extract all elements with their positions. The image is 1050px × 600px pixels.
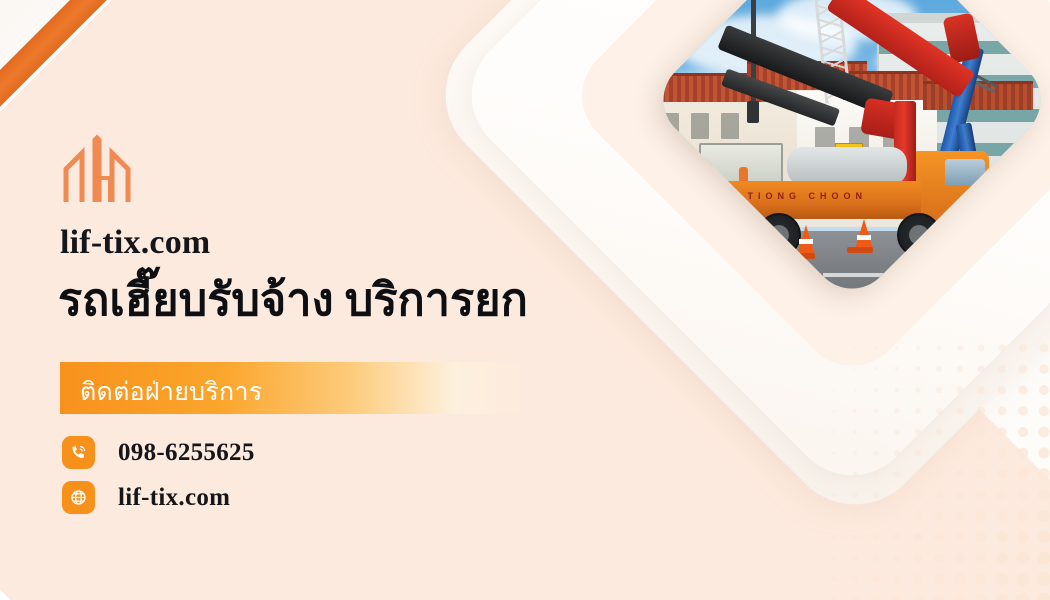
cta-label[interactable]: ติดต่อฝ่ายบริการ bbox=[80, 372, 263, 412]
crane-hook-block bbox=[747, 101, 759, 123]
traffic-cone-band bbox=[857, 235, 871, 240]
loaded-pipe bbox=[787, 147, 907, 185]
content-column: lif-tix.com รถเฮี๊ยบรับจ้าง บริการยก ติด… bbox=[0, 0, 640, 600]
phone-number[interactable]: 098-6255625 bbox=[118, 439, 255, 467]
phone-icon bbox=[62, 436, 95, 469]
promotional-banner: REDX TIONG CHOON bbox=[0, 0, 1050, 600]
globe-icon bbox=[62, 481, 95, 514]
contact-row-website[interactable]: lif-tix.com bbox=[62, 481, 230, 514]
traffic-cone-band bbox=[799, 239, 813, 244]
traffic-cone-base bbox=[847, 247, 873, 253]
website-url[interactable]: lif-tix.com bbox=[118, 484, 230, 512]
contact-row-phone[interactable]: 098-6255625 bbox=[62, 436, 255, 469]
building-logo-icon bbox=[62, 134, 132, 204]
headline-text: รถเฮี๊ยบรับจ้าง บริการยก bbox=[58, 276, 528, 326]
traffic-cone bbox=[855, 219, 873, 249]
brand-name: lif-tix.com bbox=[60, 224, 210, 262]
